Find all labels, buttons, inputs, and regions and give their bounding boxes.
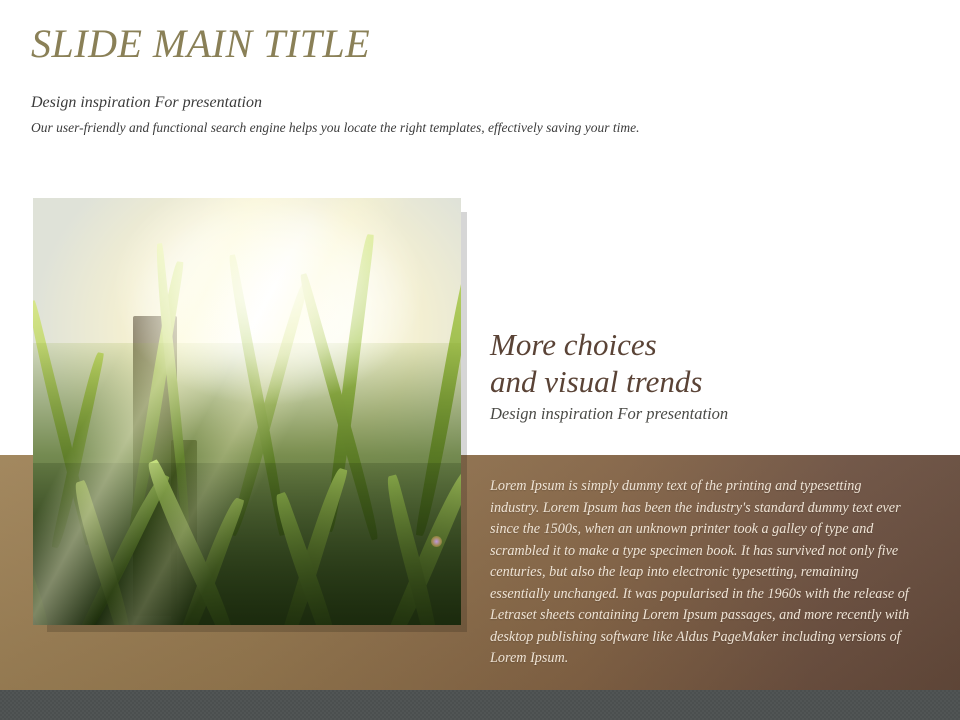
body-paragraph: Lorem Ipsum is simply dummy text of the … [490, 476, 912, 670]
photo-canvas [33, 198, 461, 625]
section-subtitle: Design inspiration For presentation [490, 404, 728, 424]
presentation-slide: SLIDE MAIN TITLE Design inspiration For … [0, 0, 960, 720]
footer-band [0, 690, 960, 720]
section-heading-line2: and visual trends [490, 363, 910, 400]
page-title: SLIDE MAIN TITLE [31, 20, 370, 67]
section-heading: More choices and visual trends [490, 326, 910, 400]
photo-sun-glow [33, 198, 461, 463]
section-heading-line1: More choices [490, 326, 910, 363]
photo-foreground-layer [33, 463, 461, 625]
slide-subtitle: Design inspiration For presentation [31, 94, 262, 112]
photo-flare-dot [431, 536, 442, 547]
cornfield-photo [33, 198, 461, 625]
slide-description: Our user-friendly and functional search … [31, 120, 639, 136]
